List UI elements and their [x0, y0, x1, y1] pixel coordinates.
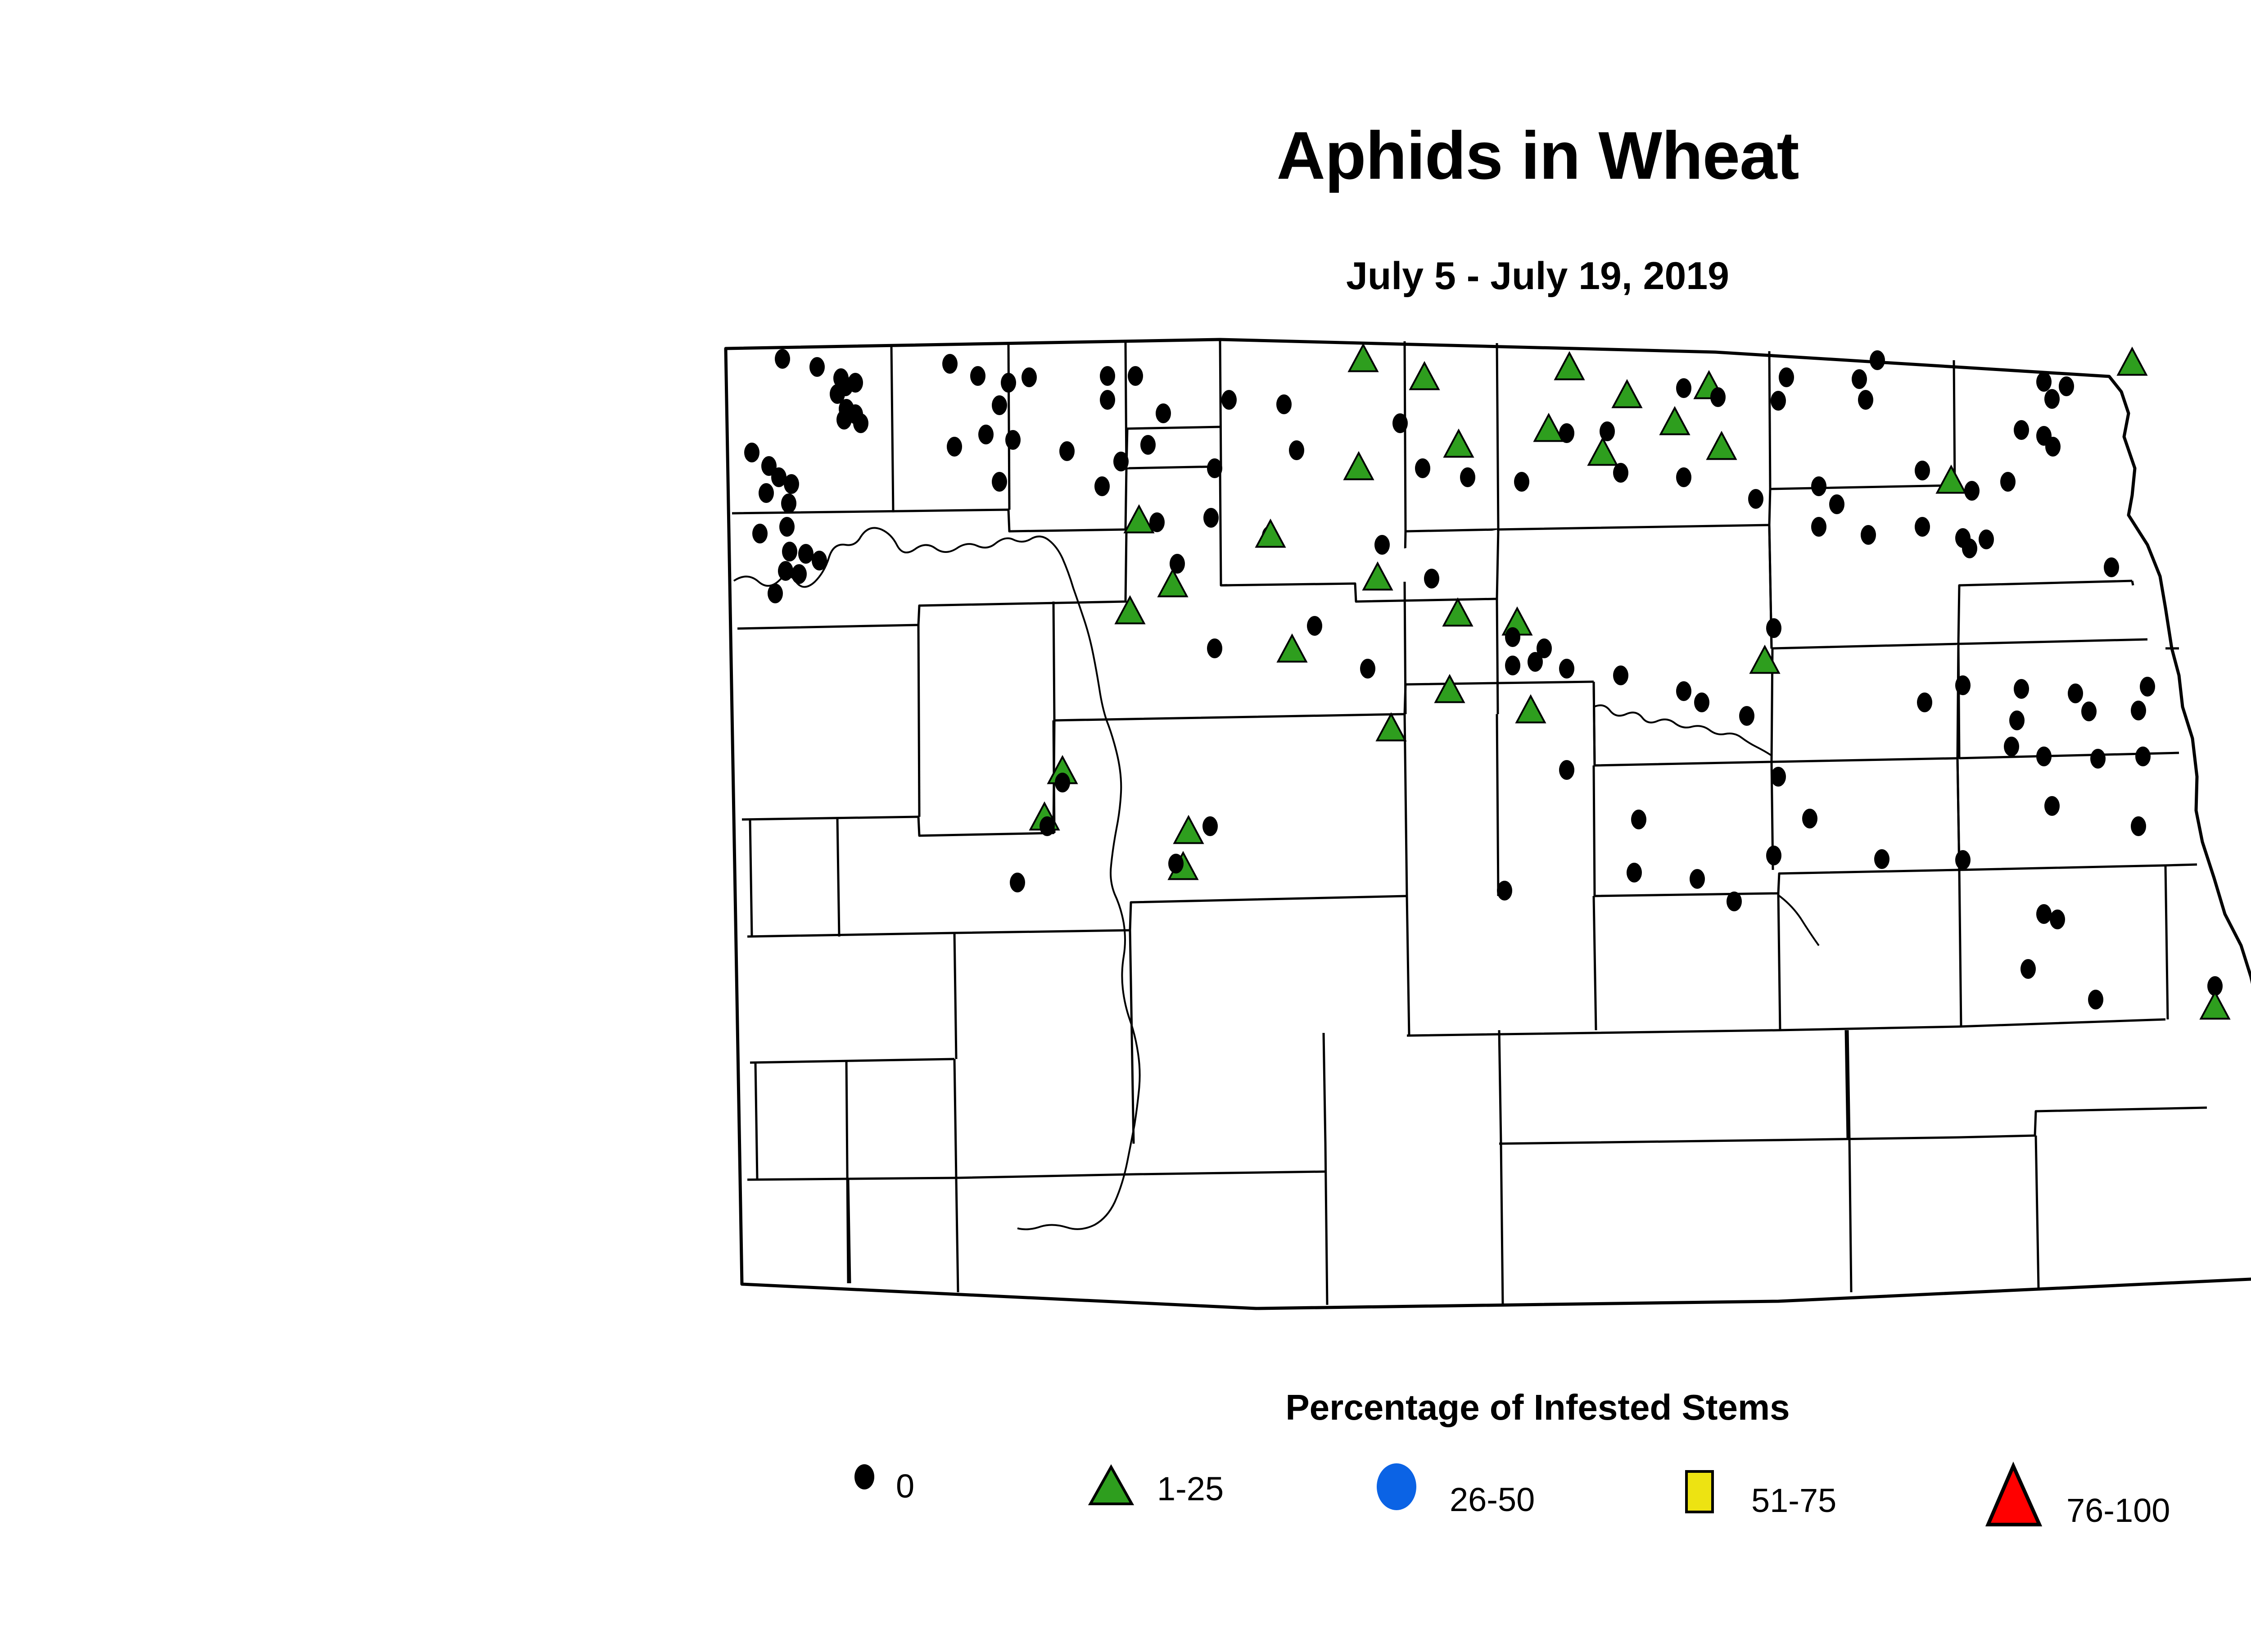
- map-marker-triangle: [2118, 349, 2147, 375]
- red-triangle-icon: [1985, 1459, 2057, 1540]
- map-marker-dot: [1415, 458, 1430, 478]
- map-marker-dot: [2045, 437, 2061, 457]
- map-marker-dot: [791, 564, 807, 584]
- map-marker-dot: [1528, 652, 1543, 672]
- v-pierce-east: [1497, 599, 1498, 714]
- v-burke-east: [1125, 342, 1126, 468]
- map-marker-dot: [1964, 481, 1980, 501]
- map-marker-dot: [2000, 472, 2016, 492]
- map-marker-dot: [812, 551, 827, 570]
- v-cavalier-east: [1954, 360, 1955, 485]
- map-marker-dot: [2131, 701, 2146, 720]
- map-marker-dot: [1739, 706, 1754, 726]
- map-marker-dot: [1613, 463, 1628, 483]
- map-marker-dot: [1917, 692, 1932, 712]
- map-marker-dot: [1962, 539, 1977, 558]
- map-marker-dot: [2059, 376, 2074, 396]
- page-title: Aphids in Wheat: [0, 122, 2251, 189]
- map-marker-dot: [1113, 452, 1129, 471]
- legend-label-3: 51-75: [1751, 1481, 1836, 1520]
- map-marker-dot: [1505, 656, 1520, 675]
- map-marker-dot: [2009, 711, 2025, 730]
- map-marker-dot: [942, 354, 958, 374]
- map-marker-dot: [1979, 530, 1994, 549]
- page-subtitle: July 5 - July 19, 2019: [0, 257, 2251, 295]
- legend-label-0: 0: [896, 1467, 914, 1505]
- map-marker-dot: [1627, 863, 1642, 883]
- v-wells-east: [1594, 765, 1595, 896]
- small-black-dot-icon: [846, 1459, 882, 1508]
- map-marker-dot: [978, 425, 994, 444]
- map-marker-dot: [1559, 760, 1574, 780]
- map-marker-dot: [1010, 873, 1025, 892]
- map-marker-dot: [1040, 816, 1055, 836]
- map-marker-dot: [1771, 391, 1786, 411]
- map-marker-dot: [1955, 675, 1971, 695]
- v-benson-east: [1594, 682, 1595, 765]
- map-marker-dot: [1766, 846, 1781, 865]
- legend-label-4: 76-100: [2066, 1491, 2170, 1530]
- map-marker-dot: [992, 395, 1007, 415]
- map-marker-dot: [1203, 508, 1219, 528]
- v-bottineau-east: [1405, 341, 1406, 531]
- map-marker-dot: [779, 517, 795, 537]
- map-marker-dot: [2088, 990, 2103, 1009]
- map-marker-dot: [2104, 557, 2119, 577]
- map-marker-dot: [1559, 423, 1574, 443]
- map-marker-dot: [1207, 638, 1222, 658]
- map-marker-dot: [1505, 627, 1520, 647]
- map-marker-dot: [1694, 692, 1709, 712]
- map-marker-dot: [1001, 373, 1016, 393]
- map-marker-dot: [781, 493, 796, 513]
- map-marker-dot: [1915, 517, 1930, 537]
- map-marker-dot: [2044, 796, 2060, 816]
- map-marker-dot: [784, 474, 799, 494]
- map-marker-dot: [809, 357, 825, 377]
- yellow-square-icon: [1675, 1459, 1733, 1526]
- map-marker-dot: [2131, 816, 2146, 836]
- map-marker-dot: [2081, 702, 2097, 721]
- map-marker-dot: [2004, 737, 2019, 756]
- map-marker-dot: [1802, 809, 1817, 828]
- map-marker-dot: [947, 437, 962, 457]
- map-marker-dot: [1771, 767, 1786, 787]
- map-marker-dot: [1514, 472, 1529, 492]
- map-marker-dot: [992, 472, 1007, 492]
- map-marker-dot: [1128, 366, 1143, 386]
- map-marker-dot: [1710, 387, 1726, 407]
- map-marker-dot: [1779, 367, 1794, 387]
- map-marker-dot: [1100, 366, 1115, 386]
- map-marker-dot: [1915, 461, 1930, 480]
- map-marker-dot: [759, 483, 774, 503]
- map-marker-dot: [1676, 467, 1691, 487]
- v-mckenzie-east: [918, 625, 919, 817]
- map-marker-dot: [768, 584, 783, 603]
- map-marker-dot: [2068, 683, 2083, 703]
- map-marker-dot: [1276, 394, 1292, 414]
- map-marker-dot: [744, 443, 759, 462]
- v-renville-east: [1220, 339, 1221, 466]
- map-marker-dot: [778, 561, 793, 581]
- v-towner-east: [1769, 351, 1770, 489]
- map-marker-dot: [1861, 525, 1876, 545]
- green-triangle-icon: [1085, 1459, 1139, 1517]
- map-marker-dot: [2036, 747, 2052, 766]
- v-grandforks-west: [2132, 581, 2133, 585]
- map-marker-dot: [2140, 677, 2155, 697]
- map-marker-dot: [848, 373, 863, 393]
- map-marker-dot: [1460, 467, 1475, 487]
- map-marker-dot: [853, 413, 868, 433]
- map-marker-dot: [1874, 849, 1889, 869]
- map-marker-dot: [1811, 517, 1826, 537]
- map-marker-dot: [1202, 816, 1218, 836]
- map-marker-dot: [1360, 659, 1375, 679]
- map-marker-dot: [2036, 904, 2052, 924]
- map-marker-dot: [1613, 665, 1628, 685]
- legend-label-2: 26-50: [1450, 1480, 1535, 1519]
- v-walsh-east: [1958, 644, 1959, 758]
- map-marker-dot: [782, 542, 797, 561]
- map-marker-dot: [2014, 679, 2029, 699]
- map-marker-dot: [1094, 476, 1110, 496]
- map-marker-dot: [1631, 810, 1646, 829]
- map-marker-dot: [1170, 554, 1185, 574]
- legend-title: Percentage of Infested Stems: [0, 1387, 2251, 1428]
- map-marker-dot: [2044, 389, 2060, 409]
- map-marker-dot: [1289, 440, 1304, 460]
- map-marker-dot: [1559, 659, 1574, 679]
- map-marker-dot: [1811, 476, 1826, 496]
- map-marker-dot: [1022, 367, 1037, 387]
- map-marker-dot: [1858, 390, 1873, 410]
- map-marker-dot: [1207, 458, 1222, 478]
- map-marker-dot: [1497, 881, 1512, 901]
- map-marker-dot: [1955, 850, 1971, 870]
- map-marker-dot: [1676, 681, 1691, 701]
- tier-east-8: [2165, 864, 2197, 865]
- map-marker-dot: [1005, 430, 1021, 450]
- blue-circle-icon: [1369, 1459, 1427, 1522]
- map-marker-dot: [2020, 959, 2036, 979]
- map-marker-dot: [2014, 420, 2029, 440]
- map-marker-dot: [1156, 403, 1171, 423]
- map-marker-dot: [1424, 569, 1439, 588]
- map-marker-dot: [1140, 435, 1156, 455]
- map-marker-dot: [2135, 747, 2151, 766]
- map-marker-dot: [1829, 494, 1844, 514]
- map-marker-dot: [775, 349, 790, 369]
- map-marker-dot: [2050, 910, 2065, 929]
- v-sheridan-east: [1497, 714, 1498, 896]
- map-marker-dot: [970, 366, 985, 386]
- map-marker-dot: [1690, 869, 1705, 889]
- county-layer: [726, 339, 2251, 1308]
- map-marker-dot: [1392, 413, 1408, 433]
- map-marker-dot: [1168, 854, 1184, 874]
- map-svg: [666, 333, 2251, 1324]
- map-marker-dot: [798, 544, 814, 564]
- map-marker-dot: [1055, 773, 1070, 792]
- legend-label-1: 1-25: [1157, 1470, 1224, 1508]
- map-marker-dot: [1852, 369, 1867, 389]
- poster-root: Aphids in Wheat July 5 - July 19, 2019: [0, 0, 2251, 1652]
- map-marker-dot: [1221, 390, 1237, 410]
- v-mountrail-east: [1053, 602, 1054, 720]
- map-marker-dot: [1676, 378, 1691, 398]
- map-marker-dot: [1748, 489, 1763, 509]
- map-marker-dot: [2090, 749, 2106, 769]
- map-marker-dot: [1307, 616, 1322, 636]
- v-rolette-east: [1497, 343, 1498, 530]
- map-marker-dot: [2036, 372, 2052, 392]
- map-marker-dot: [1870, 350, 1885, 370]
- map-marker-dot: [836, 410, 852, 430]
- legend: 0 1-25 26-50 51-75 76-10: [846, 1459, 2251, 1585]
- map-marker-dot: [1059, 441, 1075, 461]
- map-marker-dot: [1766, 618, 1781, 638]
- north-dakota-map: [666, 333, 2251, 1324]
- v-burke-west: [1008, 343, 1009, 510]
- map-marker-dot: [752, 524, 768, 543]
- map-marker-dot: [1100, 390, 1115, 410]
- v-mchenry-east: [1405, 582, 1406, 714]
- map-marker-dot: [1374, 535, 1390, 555]
- map-marker-dot: [1727, 892, 1742, 911]
